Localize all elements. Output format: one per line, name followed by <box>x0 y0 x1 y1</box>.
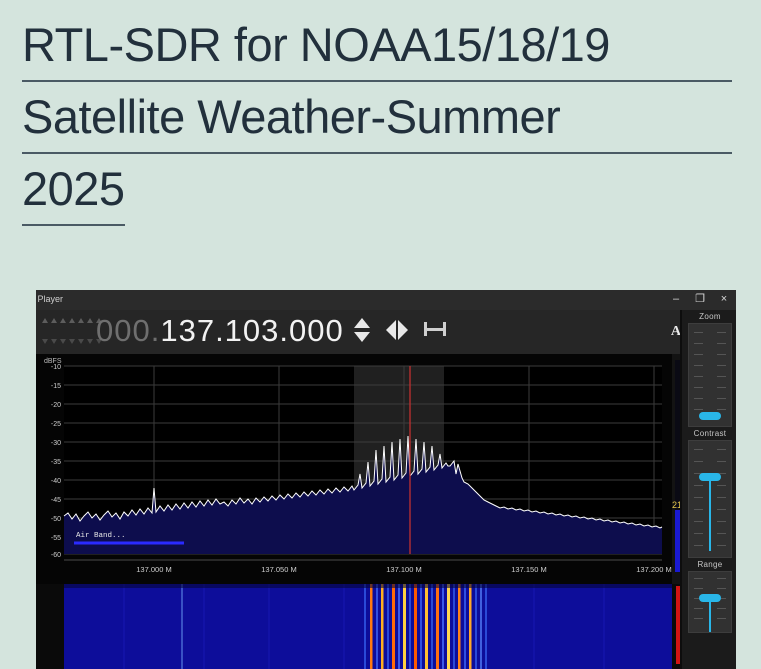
page-title-line-1: RTL-SDR for NOAA15/18/19 <box>22 10 732 82</box>
page-title: RTL-SDR for NOAA15/18/19 Satellite Weath… <box>22 10 732 226</box>
zoom-slider-handle[interactable] <box>699 412 721 420</box>
close-icon[interactable]: × <box>718 292 730 306</box>
svg-text:-15: -15 <box>51 383 61 390</box>
spectrum-scope-area: dBFS -10 -15 -20 -25 -30 -35 -40 -45 -50… <box>36 354 736 584</box>
sdr-application-window: e Player – ❐ × 000.137.103.000 <box>36 290 736 669</box>
toolbar-icon-group <box>354 318 446 342</box>
svg-text:137.150 M: 137.150 M <box>511 565 546 574</box>
window-title: e Player <box>36 294 63 304</box>
svg-text:-40: -40 <box>51 478 61 485</box>
waterfall-area <box>36 584 736 669</box>
window-titlebar: e Player – ❐ × <box>36 290 736 310</box>
digit-up-arrows-icon[interactable] <box>42 318 96 323</box>
svg-text:-25: -25 <box>51 421 61 428</box>
control-slider-panel: Zoom Contrast <box>680 310 736 669</box>
contrast-slider-block: Contrast Rang <box>682 429 736 569</box>
zoom-slider[interactable] <box>688 323 732 427</box>
window-controls: – ❐ × <box>670 292 730 306</box>
digit-down-arrows-icon[interactable] <box>42 339 96 344</box>
svg-text:-20: -20 <box>51 402 61 409</box>
contrast-slider-handle[interactable] <box>699 473 721 481</box>
contrast-slider[interactable] <box>688 440 732 558</box>
svg-text:-45: -45 <box>51 497 61 504</box>
band-marker-label: Air Band... <box>76 532 126 540</box>
frequency-display[interactable]: 000.137.103.000 <box>96 313 344 349</box>
svg-text:-35: -35 <box>51 459 61 466</box>
svg-text:-50: -50 <box>51 516 61 523</box>
minimize-icon[interactable]: – <box>670 292 682 306</box>
frequency-dim-prefix: 000. <box>96 313 160 348</box>
range-slider[interactable] <box>688 571 732 633</box>
svg-text:-30: -30 <box>51 440 61 447</box>
range-slider-label: Range <box>682 560 736 569</box>
range-slider-handle[interactable] <box>699 594 721 602</box>
up-down-arrows-icon[interactable] <box>354 318 370 342</box>
spectrum-analyzer-plot[interactable]: dBFS -10 -15 -20 -25 -30 -35 -40 -45 -50… <box>36 354 672 584</box>
bandwidth-icon[interactable] <box>424 322 446 338</box>
frequency-digit-steppers[interactable] <box>42 318 96 344</box>
frequency-value: 137.103.000 <box>160 313 343 348</box>
waterfall-display[interactable] <box>64 584 672 669</box>
page-title-line-2: Satellite Weather-Summer <box>22 82 732 154</box>
frequency-toolbar: 000.137.103.000 AIRSPY <box>36 310 736 354</box>
svg-text:137.000 M: 137.000 M <box>136 565 171 574</box>
svg-text:137.100 M: 137.100 M <box>386 565 421 574</box>
contrast-slider-label: Contrast <box>682 429 736 438</box>
svg-text:-10: -10 <box>51 364 61 371</box>
page-title-line-3: 2025 <box>22 154 125 226</box>
maximize-icon[interactable]: ❐ <box>694 292 706 306</box>
zoom-slider-label: Zoom <box>682 312 736 321</box>
zoom-slider-block: Zoom <box>682 310 736 427</box>
svg-text:137.050 M: 137.050 M <box>261 565 296 574</box>
svg-text:-55: -55 <box>51 535 61 542</box>
svg-text:137.200 M: 137.200 M <box>636 565 671 574</box>
range-slider-block <box>682 571 736 633</box>
left-right-arrows-icon[interactable] <box>384 320 410 340</box>
page-root: RTL-SDR for NOAA15/18/19 Satellite Weath… <box>0 0 761 669</box>
svg-text:-60: -60 <box>51 552 61 559</box>
